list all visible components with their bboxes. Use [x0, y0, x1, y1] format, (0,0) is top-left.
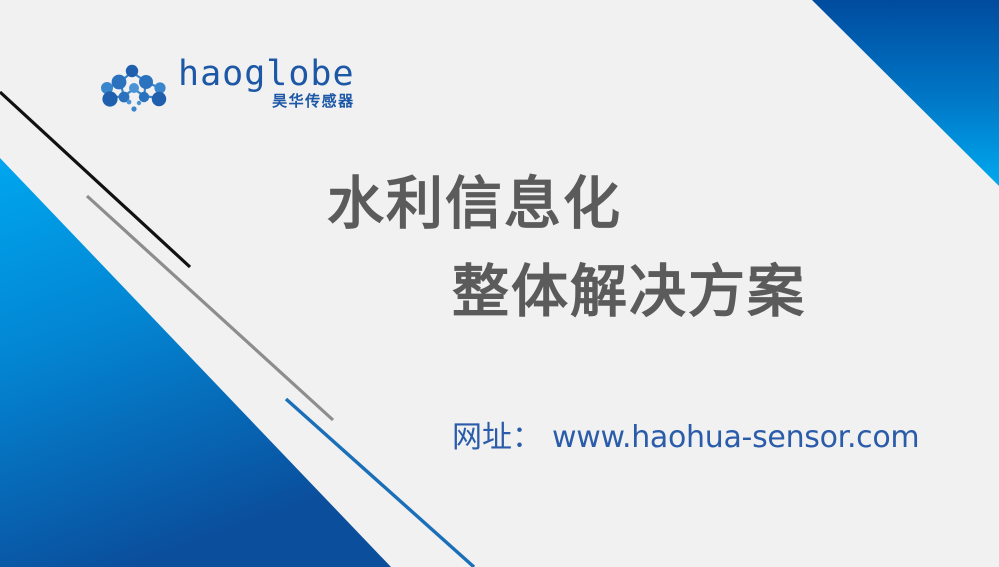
logo-chinese-name: 昊华传感器	[272, 93, 355, 110]
network-nodes-logo-icon	[98, 62, 172, 118]
title-line-1: 水利信息化	[0, 160, 999, 248]
website-url[interactable]: www.haohua-sensor.com	[552, 418, 919, 458]
website-line: 网址： www.haohua-sensor.com	[452, 418, 919, 458]
logo-wordmark: haoglobe	[178, 58, 355, 91]
brand-logo: haoglobe 昊华传感器	[98, 58, 355, 118]
website-label: 网址：	[452, 418, 542, 458]
presentation-cover-slide: haoglobe 昊华传感器 水利信息化 整体解决方案 网址： www.haoh…	[0, 0, 999, 567]
logo-text-lockup: haoglobe 昊华传感器	[178, 58, 355, 110]
page-title: 水利信息化 整体解决方案	[0, 160, 999, 336]
title-line-2: 整体解决方案	[0, 248, 999, 336]
